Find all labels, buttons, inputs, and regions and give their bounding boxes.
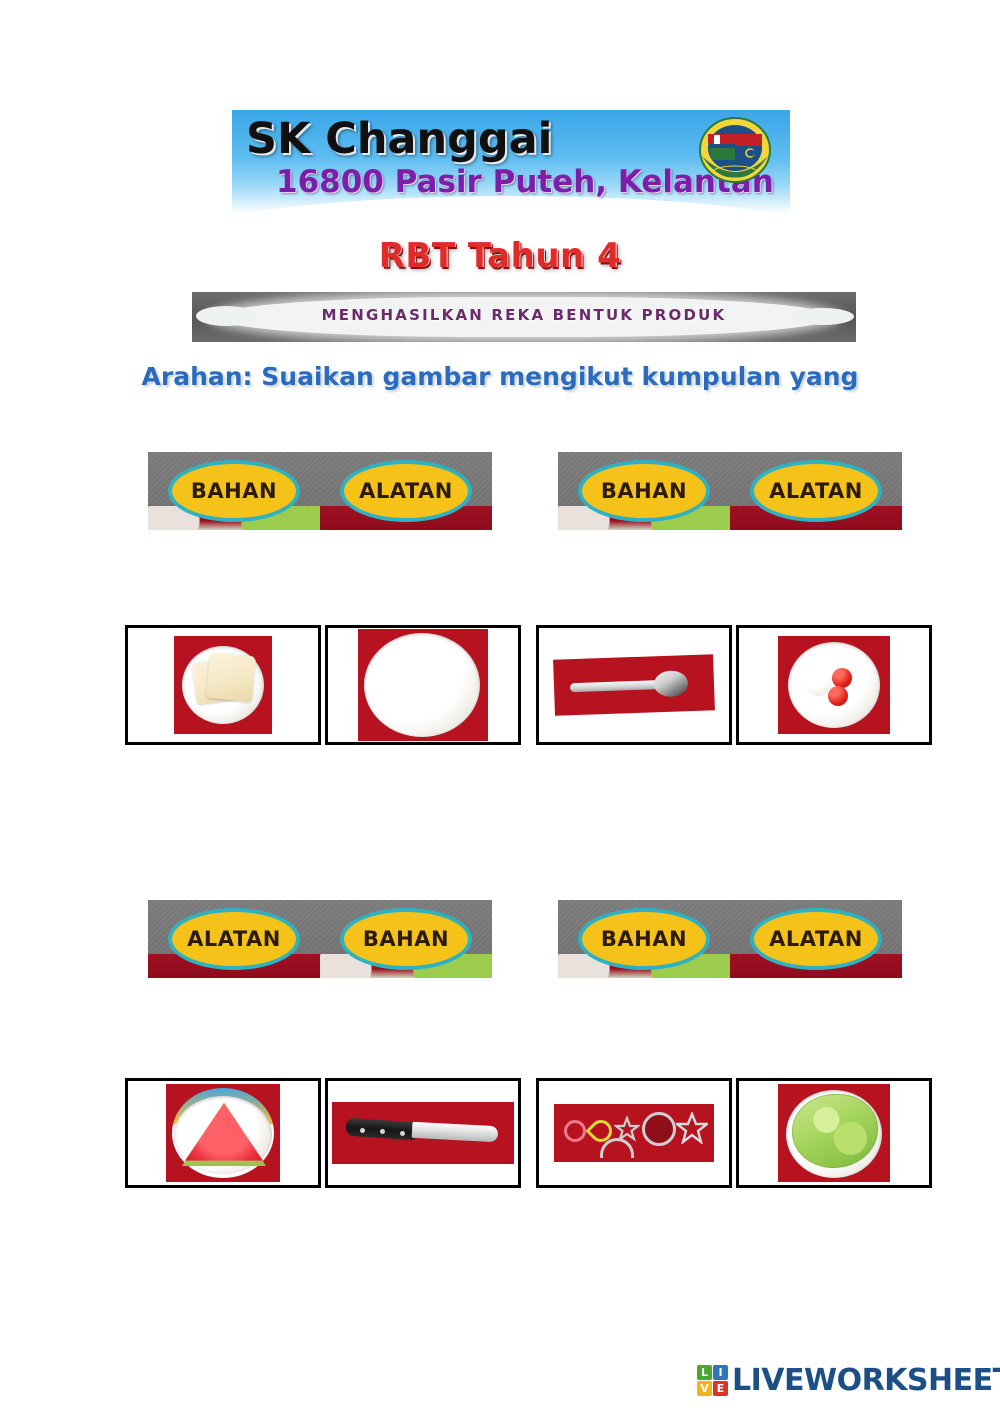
- lw-tile-l: L: [697, 1365, 712, 1380]
- label-banner-pair-2: BAHAN ALATAN: [558, 452, 902, 530]
- photo-empty-white-plate: [358, 629, 488, 741]
- label-oval: BAHAN: [168, 460, 300, 522]
- label-banner-2a[interactable]: BAHAN: [558, 452, 730, 530]
- label-text: BAHAN: [601, 927, 687, 951]
- label-oval: ALATAN: [750, 908, 882, 970]
- label-banner-1a[interactable]: BAHAN: [148, 452, 320, 530]
- liveworksheets-tiles-icon: L I V E: [697, 1365, 728, 1396]
- label-banner-pair-3: ALATAN BAHAN: [148, 900, 492, 978]
- photo-spoon-on-red: [553, 654, 715, 716]
- label-text: ALATAN: [187, 927, 281, 951]
- picture-box-bread[interactable]: [125, 625, 321, 745]
- photo-egg-and-tomatoes-on-plate: [778, 636, 890, 734]
- label-banner-3a[interactable]: ALATAN: [148, 900, 320, 978]
- picture-box-egg-tomato[interactable]: [736, 625, 932, 745]
- picture-box-cookie-cutters[interactable]: [536, 1078, 732, 1188]
- label-banner-3b[interactable]: BAHAN: [320, 900, 492, 978]
- page-title: RBT Tahun 4: [0, 236, 1000, 276]
- school-header-banner: SK Changgai 16800 Pasir Puteh, Kelantan: [232, 110, 790, 214]
- picture-box-knife[interactable]: [325, 1078, 521, 1188]
- label-banner-4b[interactable]: ALATAN: [730, 900, 902, 978]
- photo-cookie-cutters-on-red: [554, 1104, 714, 1162]
- label-oval: BAHAN: [578, 460, 710, 522]
- label-text: ALATAN: [359, 479, 453, 503]
- label-oval: BAHAN: [578, 908, 710, 970]
- label-banner-1b[interactable]: ALATAN: [320, 452, 492, 530]
- picture-box-spoon[interactable]: [536, 625, 732, 745]
- school-name: SK Changgai: [246, 114, 552, 164]
- lw-tile-e: E: [713, 1381, 728, 1396]
- picture-box-empty-plate[interactable]: [325, 625, 521, 745]
- photo-bread-on-plate: [174, 636, 272, 734]
- school-crest-icon: [698, 116, 772, 186]
- lw-tile-v: V: [697, 1381, 712, 1396]
- label-text: ALATAN: [769, 927, 863, 951]
- label-oval: ALATAN: [168, 908, 300, 970]
- instruction-text: Arahan: Suaikan gambar mengikut kumpulan…: [0, 362, 1000, 391]
- picture-box-lettuce[interactable]: [736, 1078, 932, 1188]
- label-text: BAHAN: [363, 927, 449, 951]
- liveworksheets-wordmark: LIVEWORKSHEETS: [732, 1363, 1000, 1398]
- photo-kitchen-knife-on-red: [332, 1102, 514, 1164]
- label-banner-pair-4: BAHAN ALATAN: [558, 900, 902, 978]
- star-cutter-icon: [676, 1112, 708, 1144]
- photo-lettuce-on-plate: [778, 1084, 890, 1182]
- topic-strip: MENGHASILKAN REKA BENTUK PRODUK: [192, 292, 856, 342]
- label-banner-4a[interactable]: BAHAN: [558, 900, 730, 978]
- label-text: BAHAN: [191, 479, 277, 503]
- label-banner-2b[interactable]: ALATAN: [730, 452, 902, 530]
- photo-watermelon-slice-on-plate: [166, 1084, 280, 1182]
- topic-text: MENGHASILKAN REKA BENTUK PRODUK: [192, 306, 856, 324]
- label-oval: ALATAN: [750, 460, 882, 522]
- lw-tile-i: I: [713, 1365, 728, 1380]
- liveworksheets-footer-logo[interactable]: L I V E LIVEWORKSHEETS: [697, 1363, 1000, 1398]
- label-oval: BAHAN: [340, 908, 472, 970]
- label-banner-pair-1: BAHAN ALATAN: [148, 452, 492, 530]
- picture-box-watermelon[interactable]: [125, 1078, 321, 1188]
- label-text: ALATAN: [769, 479, 863, 503]
- label-text: BAHAN: [601, 479, 687, 503]
- label-oval: ALATAN: [340, 460, 472, 522]
